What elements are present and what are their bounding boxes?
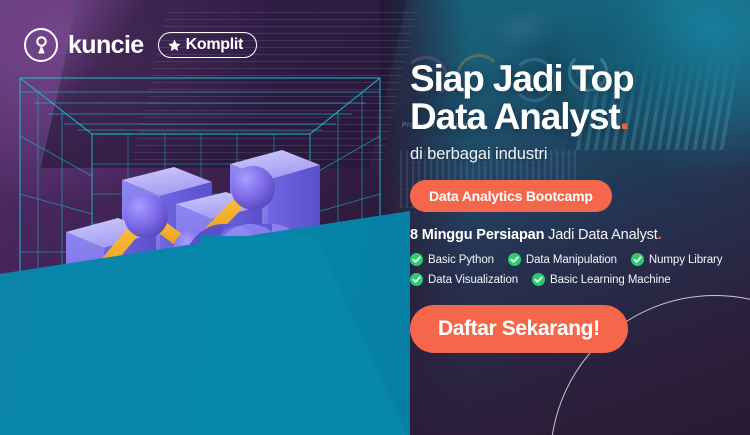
bootcamp-badge: Data Analytics Bootcamp (410, 180, 612, 212)
headline-line-1: Siap Jadi Top (410, 60, 740, 98)
star-icon (168, 39, 181, 52)
check-circle-icon (410, 273, 423, 286)
node-4 (231, 166, 275, 210)
page-title: Siap Jadi Top Data Analyst. (410, 60, 740, 136)
node-2 (124, 194, 168, 238)
headline-accent-dot: . (620, 96, 629, 137)
check-circle-icon (508, 253, 521, 266)
headline-line-2: Data Analyst (410, 96, 620, 137)
feature-row-1: Basic Python Data Manipulation Numpy Lib… (410, 253, 740, 266)
promo-banner: 80% 85% 85% 80% Profit and Loss summary (0, 0, 750, 435)
brand-name: kuncie (68, 33, 144, 58)
kuncie-keyhole-icon (24, 28, 58, 62)
promise-accent-dot: . (658, 227, 662, 243)
feature-item-data-visualization: Data Visualization (410, 273, 518, 286)
komplit-badge[interactable]: Komplit (158, 32, 257, 58)
check-circle-icon (410, 253, 423, 266)
headline-subtitle: di berbagai industri (410, 145, 740, 164)
feature-label: Basic Python (428, 254, 494, 266)
feature-label: Basic Learning Machine (550, 274, 671, 286)
feature-list: Basic Python Data Manipulation Numpy Lib… (410, 253, 740, 286)
feature-label: Data Visualization (428, 274, 518, 286)
feature-item-basic-python: Basic Python (410, 253, 494, 266)
check-circle-icon (631, 253, 644, 266)
feature-label: Numpy Library (649, 254, 722, 266)
brand-logo[interactable]: kuncie Komplit (24, 28, 257, 62)
feature-item-data-manipulation: Data Manipulation (508, 253, 617, 266)
check-circle-icon (532, 273, 545, 286)
promo-content: Siap Jadi Top Data Analyst. di berbagai … (410, 60, 740, 353)
feature-item-basic-learning-machine: Basic Learning Machine (532, 273, 671, 286)
feature-label: Data Manipulation (526, 254, 617, 266)
promise-line: 8 Minggu Persiapan Jadi Data Analyst. (410, 227, 740, 243)
komplit-label: Komplit (186, 37, 243, 53)
feature-row-2: Data Visualization Basic Learning Machin… (410, 273, 740, 286)
register-button[interactable]: Daftar Sekarang! (410, 305, 628, 353)
headline-line-2-wrap: Data Analyst. (410, 98, 740, 136)
promise-bold: 8 Minggu Persiapan (410, 227, 544, 243)
feature-item-numpy-library: Numpy Library (631, 253, 722, 266)
promise-rest: Jadi Data Analyst (544, 227, 657, 243)
